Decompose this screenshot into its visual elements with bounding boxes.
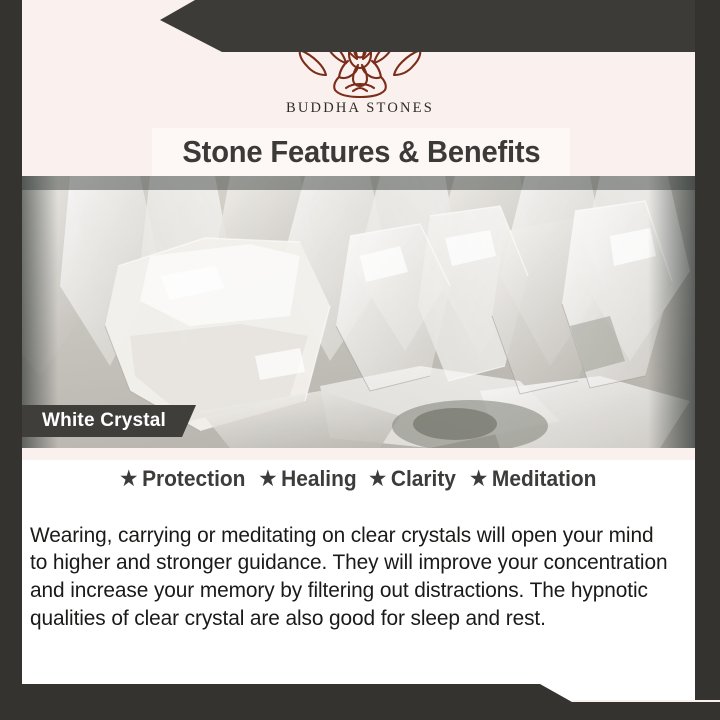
benefit-item-healing: ★ Healing [252, 466, 357, 492]
description-text: Wearing, carrying or meditating on clear… [30, 522, 670, 633]
frame-left-border [0, 0, 22, 720]
benefit-item-protection: ★ Protection [121, 466, 246, 492]
benefit-item-meditation: ★ Meditation [462, 466, 596, 492]
benefit-label: Meditation [492, 466, 597, 492]
product-label-text: White Crystal [42, 410, 166, 432]
infographic-card: BUDDHA STONES Stone Features & Benefits [0, 0, 720, 720]
benefit-label: Clarity [391, 466, 456, 492]
product-label: White Crystal [22, 405, 196, 437]
benefit-label: Protection [142, 466, 245, 492]
star-icon: ★ [259, 469, 276, 489]
divider-strip [22, 448, 695, 460]
frame-bottom-border [0, 684, 720, 720]
page-title: Stone Features & Benefits [182, 134, 540, 170]
benefit-item-clarity: ★ Clarity [362, 466, 456, 492]
benefits-list: ★ Protection ★ Healing ★ Clarity ★ Medit… [22, 466, 695, 492]
star-icon: ★ [121, 469, 138, 489]
brand-name: BUDDHA STONES [0, 100, 720, 117]
benefit-label: Healing [281, 466, 356, 492]
content-panel: ★ Protection ★ Healing ★ Clarity ★ Medit… [22, 460, 695, 686]
star-icon: ★ [369, 469, 386, 489]
star-icon: ★ [470, 469, 487, 489]
title-banner: Stone Features & Benefits [152, 128, 570, 176]
frame-right-border [695, 0, 720, 720]
